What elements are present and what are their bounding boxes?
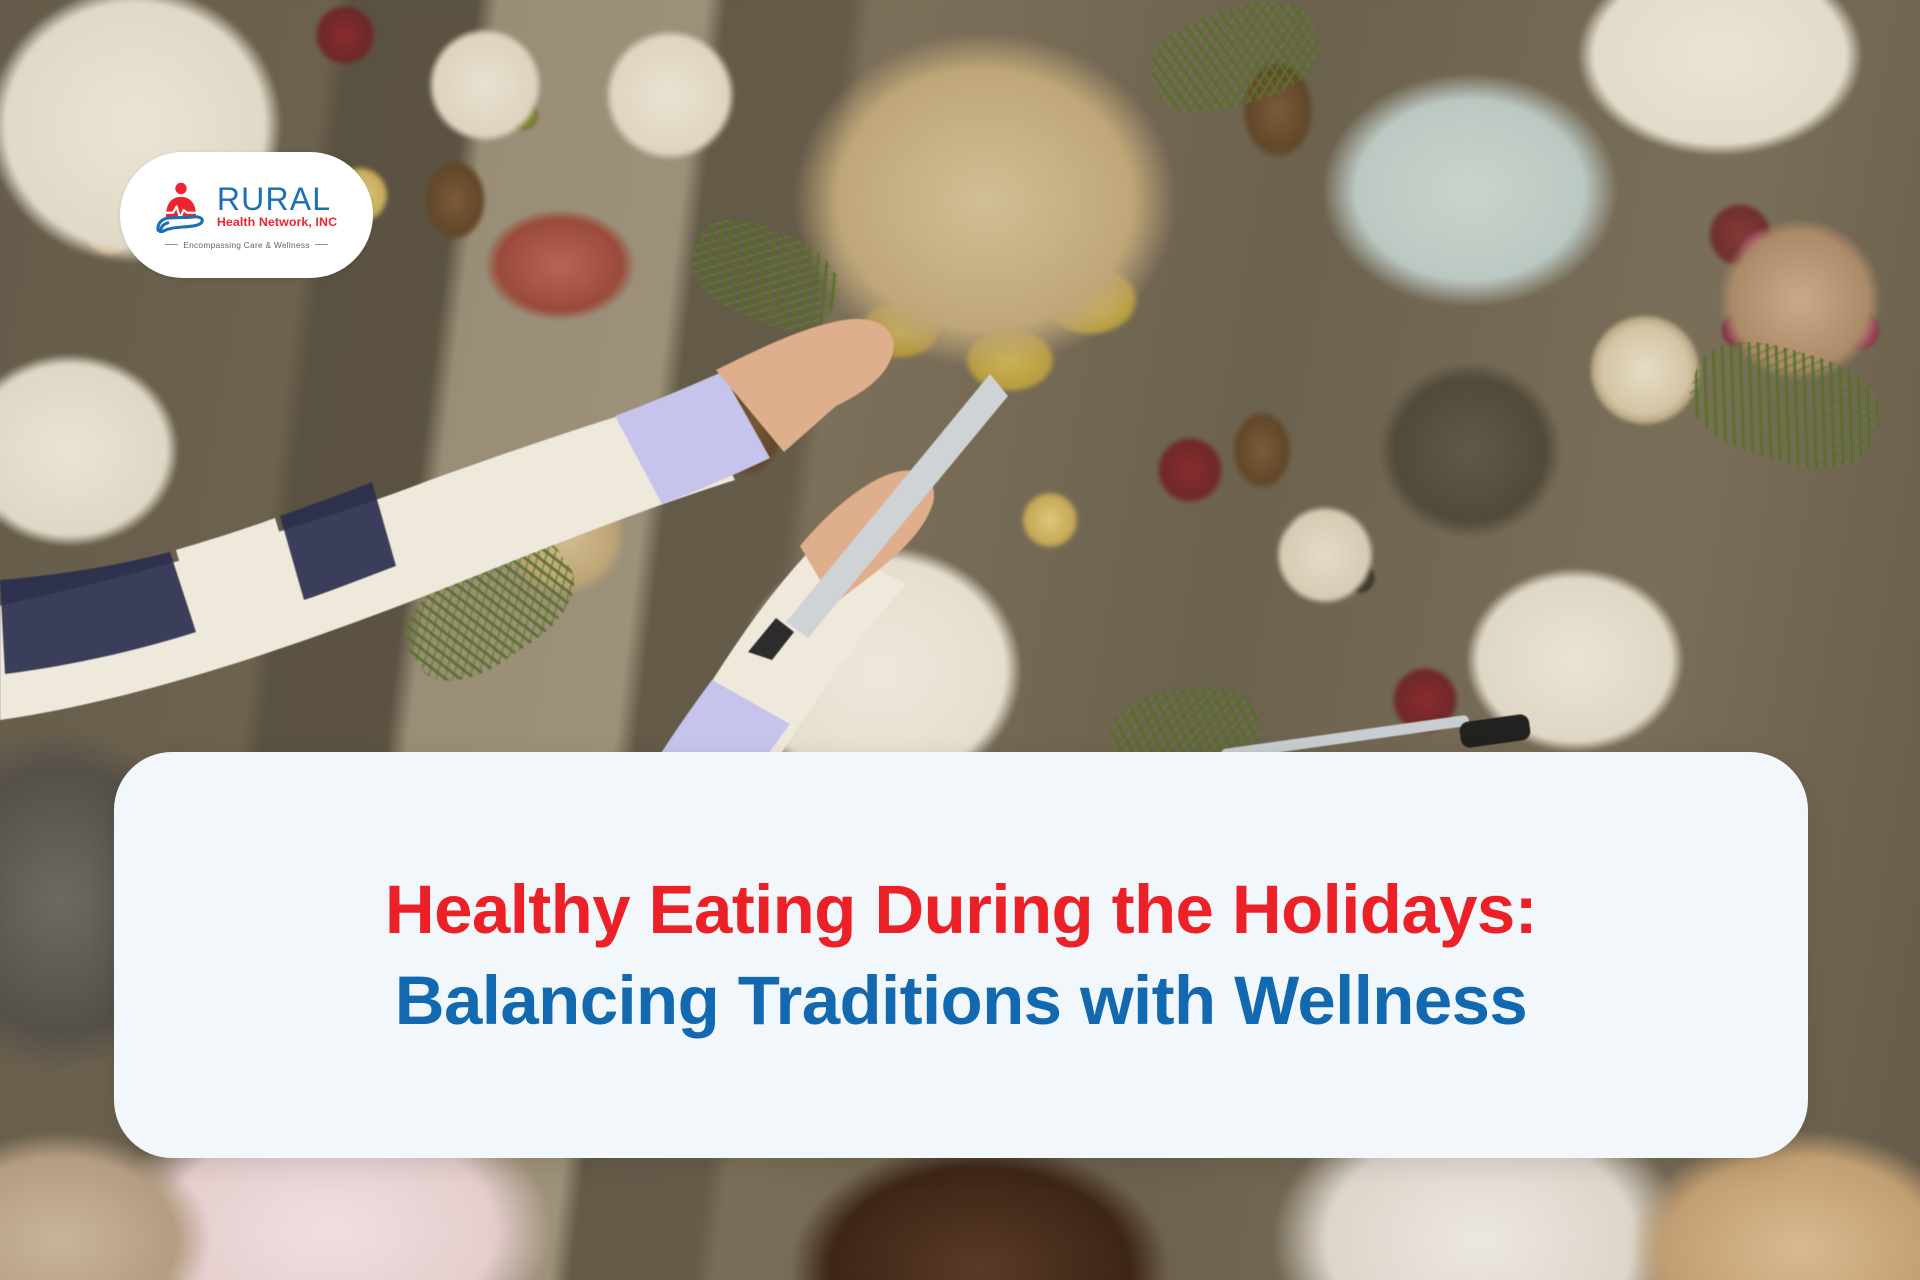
graphic-canvas: RURAL Health Network, INC Encompassing C…	[0, 0, 1920, 1280]
title-card: Healthy Eating During the Holidays: Bala…	[114, 752, 1808, 1158]
logo-tagline-text: Encompassing Care & Wellness	[183, 240, 309, 250]
logo-wordmark: RURAL Health Network, INC	[217, 184, 337, 229]
logo-subtitle: Health Network, INC	[217, 216, 337, 228]
tagline-dash-right	[315, 244, 328, 245]
rural-health-network-logo-mark	[154, 181, 208, 233]
logo-badge: RURAL Health Network, INC Encompassing C…	[120, 152, 373, 278]
logo-tagline: Encompassing Care & Wellness	[165, 240, 327, 250]
title-line-1: Healthy Eating During the Holidays:	[385, 871, 1537, 948]
logo-title: RURAL	[217, 184, 331, 215]
logo-row: RURAL Health Network, INC	[154, 181, 337, 233]
tagline-dash-left	[165, 244, 178, 245]
title-line-2: Balancing Traditions with Wellness	[395, 962, 1527, 1039]
